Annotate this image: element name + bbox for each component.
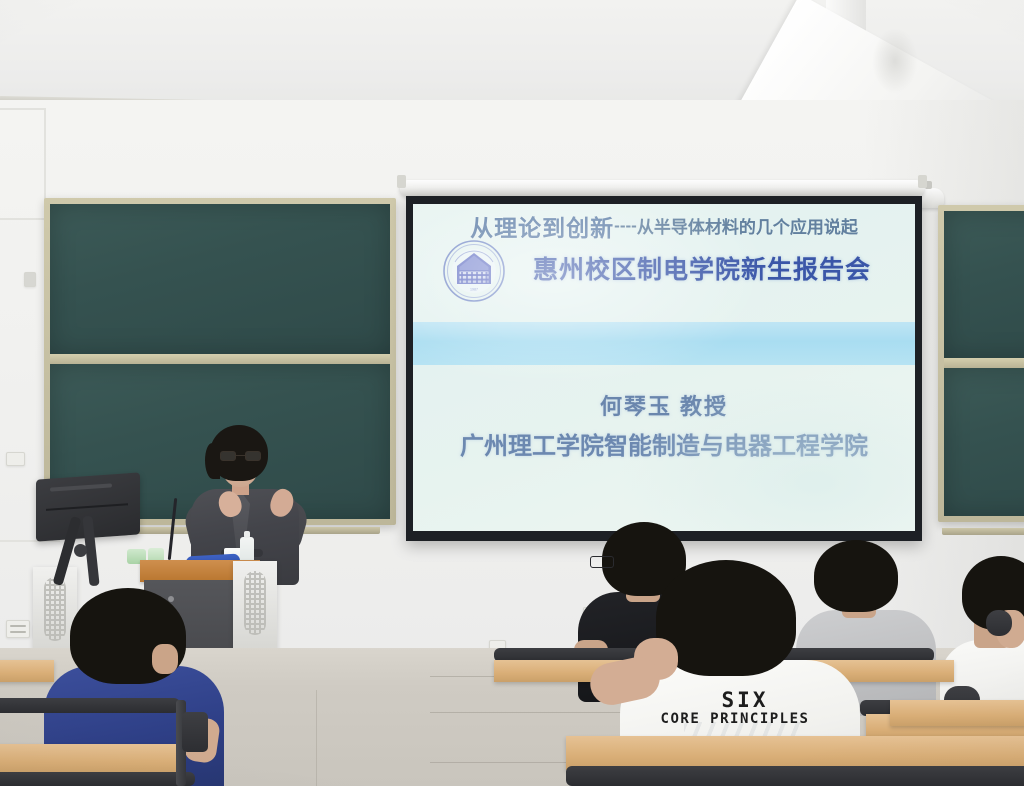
slide-subtitle-sub: 从半导体材料的几个应用说起 <box>637 213 858 238</box>
screen-bracket-right <box>918 175 927 188</box>
monitor-seam <box>46 503 128 511</box>
beam-smudge <box>872 28 918 94</box>
wall-switch-upper[interactable] <box>24 272 36 287</box>
speaker-grill-icon <box>244 571 266 635</box>
monitor-vent <box>50 483 112 491</box>
presentation-slide: 1987 惠州校区制电学院新生报告会 从理论到创新 ---- 从半导体材料的几个… <box>413 204 915 531</box>
blackboard-right-upper-panel <box>944 211 1024 358</box>
tshirt-line1: SIX <box>650 688 840 712</box>
blackboard-left-divider <box>50 354 390 364</box>
tshirt-line1-text: SIX <box>722 688 769 712</box>
slide-subtitle-row: 从理论到创新 ---- 从半导体材料的几个应用说起 <box>413 204 915 247</box>
blackboard-right-divider <box>944 358 1024 368</box>
projector-screen-housing[interactable] <box>400 180 924 197</box>
eyeglasses-icon <box>220 451 261 461</box>
screen-bracket-left <box>397 175 406 188</box>
projection-screen[interactable]: 1987 惠州校区制电学院新生报告会 从理论到创新 ---- 从半导体材料的几个… <box>406 196 922 541</box>
slide-subtitle-main: 从理论到创新 <box>470 209 614 243</box>
chair-back-front-left <box>182 712 208 752</box>
student-ear <box>152 644 178 674</box>
slide-subtitle-band <box>413 322 915 365</box>
desk-rail-front-right <box>566 766 1024 786</box>
monitor-arm-joint <box>74 544 87 557</box>
chalk-tray-right <box>942 528 1024 535</box>
desk-top-left-small <box>0 660 54 682</box>
blackboard-right-lower-panel <box>944 368 1024 516</box>
projection-surface: 1987 惠州校区制电学院新生报告会 从理论到创新 ---- 从半导体材料的几个… <box>413 204 915 531</box>
desk-top-right-2 <box>890 700 1024 726</box>
floor-grout-v3 <box>316 690 317 786</box>
desk-rail-front-left-lower <box>0 772 195 786</box>
podium-speaker-panel-right <box>233 561 277 653</box>
lecture-hall-photo: 1987 惠州校区制电学院新生报告会 从理论到创新 ---- 从半导体材料的几个… <box>0 0 1024 786</box>
blackboard-left-upper-panel <box>50 204 390 354</box>
slide-subtitle-dash: ---- <box>614 216 637 236</box>
chair-knob-right <box>986 610 1012 636</box>
desk-top-front-right <box>566 736 1024 770</box>
slide-presenter-name: 何琴玉 教授 <box>413 389 915 421</box>
slide-affiliation: 广州理工学院智能制造与电器工程学院 <box>413 426 915 461</box>
monitor-arm[interactable] <box>62 516 108 596</box>
desk-rail-front-left-upper <box>0 698 180 713</box>
wall-plate-left <box>6 452 25 466</box>
wall-seam-3 <box>0 218 46 220</box>
svg-text:1987: 1987 <box>470 288 478 292</box>
desk-top-front-left <box>0 744 180 774</box>
blackboard-right <box>938 205 1024 522</box>
wall-seam-1 <box>0 108 46 110</box>
tshirt-line2-text: CORE PRINCIPLES <box>661 711 810 727</box>
wall-outlet-lower-left[interactable] <box>6 620 30 638</box>
university-crest-logo: 1987 <box>443 240 505 302</box>
tshirt-line2: CORE PRINCIPLES <box>630 710 840 728</box>
slide-title: 惠州校区制电学院新生报告会 <box>533 250 901 286</box>
